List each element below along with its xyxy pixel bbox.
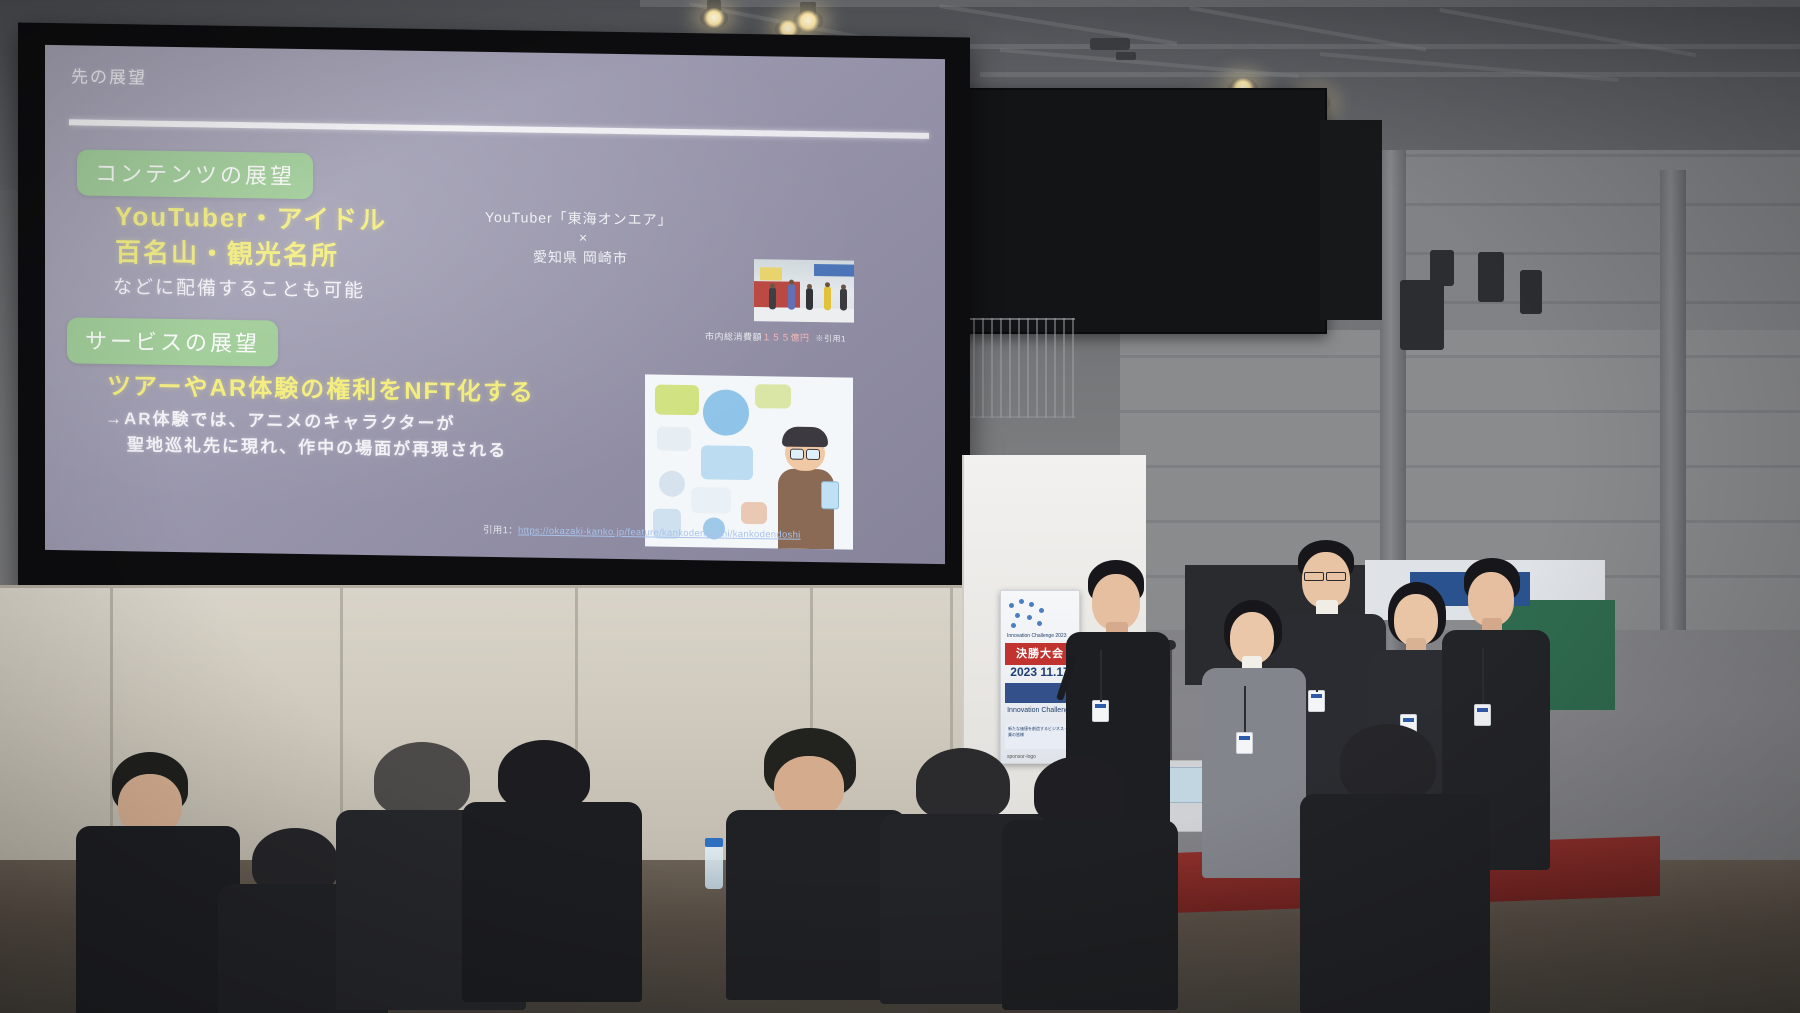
ceiling-truss (980, 72, 1800, 77)
audience-hair (1340, 724, 1436, 800)
contents-line-2: 百名山・観光名所 (115, 232, 339, 273)
audience-hair (374, 742, 470, 816)
thumb-sign (760, 267, 782, 280)
ceiling-light-body (1090, 38, 1130, 50)
illust-dot (659, 471, 685, 497)
metric-note: ※引用1 (816, 334, 846, 343)
case-study-line-2: 愛知県 岡崎市 (533, 247, 628, 268)
audience-torso (462, 802, 642, 1002)
thumb-person-head (789, 280, 794, 285)
metric-line: 市内総消費額１５５億円 ※引用1 (705, 329, 846, 344)
presenter-lanyard (1244, 686, 1246, 732)
illust-speech-bubble (657, 427, 691, 452)
case-study-line-1: YouTuber「東海オンエア」 (485, 207, 673, 230)
speaker-box (1520, 270, 1542, 314)
thumb-person (824, 286, 831, 310)
illust-speech-bubble (655, 385, 699, 416)
presenter-badge (1236, 732, 1253, 754)
illust-globe-icon (703, 389, 749, 436)
illust-speech-bubble (691, 487, 731, 514)
presenter-lanyard (1316, 632, 1318, 692)
thumb-person (788, 284, 795, 310)
audience-torso (76, 826, 240, 1013)
ceiling-light-body (1116, 52, 1136, 60)
illust-character-glasses (790, 449, 804, 460)
ceiling-light (700, 8, 728, 28)
led-display-panel-side (1320, 120, 1382, 320)
illust-character-glasses (806, 449, 820, 460)
audience-torso (1002, 820, 1178, 1010)
illust-house-icon (741, 502, 767, 524)
section-pill-service: サービスの展望 (67, 317, 278, 366)
thumb-person (806, 288, 813, 310)
thumb-blue-banner (814, 264, 854, 277)
poster-headline: 決勝大会 (1005, 643, 1075, 665)
thumb-person-head (770, 283, 775, 288)
poster-event-name: Innovation Challenge 2023 (1007, 633, 1067, 639)
metric-label: 市内総消費額 (705, 331, 762, 342)
ar-illustration-thumbnail (645, 374, 853, 549)
water-bottle-cap (705, 838, 723, 847)
thumb-person-head (841, 284, 846, 289)
thumb-floor (754, 307, 854, 323)
thumb-person-head (825, 282, 830, 287)
audience-torso (726, 810, 906, 1000)
illust-smartphone (821, 481, 839, 509)
speaker-box (1478, 252, 1504, 302)
audience-head (774, 756, 844, 818)
citation-prefix: 引用1： (483, 525, 518, 537)
audience-torso (1300, 794, 1490, 1013)
contents-line-3: などに配備することも可能 (113, 272, 365, 303)
contents-line-1: YouTuber・アイドル (115, 196, 387, 237)
presenter-lanyard (1408, 668, 1410, 714)
presenter-glasses (1304, 572, 1324, 581)
slide-title-rule (69, 119, 929, 139)
service-headline: ツアーやAR体験の権利をNFT化する (107, 366, 535, 408)
led-display-panel (953, 88, 1327, 334)
presenter-lanyard (1100, 650, 1102, 702)
audience-hair (916, 748, 1010, 820)
presenter-badge (1474, 704, 1491, 726)
hall-pillar (1660, 170, 1686, 630)
presenter-torso (1202, 668, 1306, 878)
presenter-lanyard (1482, 648, 1484, 704)
poster-logo-dots (1009, 599, 1051, 629)
water-bottle (705, 845, 723, 889)
onair-thumbnail-photo (754, 259, 854, 323)
speaker-box (1430, 250, 1454, 286)
case-study-cross: × (579, 229, 588, 245)
section-pill-contents: コンテンツの展望 (77, 149, 313, 199)
metric-value: １５５億円 (762, 332, 810, 343)
speaker-box (1400, 280, 1444, 350)
slide-header-title: 先の展望 (71, 62, 147, 88)
catwalk-railing (955, 318, 1075, 418)
thumb-person (840, 288, 847, 310)
presenter-badge (1308, 690, 1325, 712)
audience-hair (1034, 756, 1126, 826)
poster-sponsor-logo: sponsor-logo (1007, 754, 1036, 760)
service-detail-line-2: 聖地巡礼先に現れ、作中の場面が再現される (127, 430, 507, 461)
illust-speech-bubble (701, 445, 753, 480)
citation-url[interactable]: https://okazaki-kanko.jp/feature/kankode… (518, 525, 801, 540)
poster-footer-block: 新たな価値を創造するビジネス・企業の皆様 (1005, 723, 1075, 749)
poster-subtitle: Innovation Challenge (1005, 707, 1075, 714)
conference-photo: 先の展望 コンテンツの展望 YouTuber・アイドル 百名山・観光名所 などに… (0, 0, 1800, 1013)
thumb-person-head (807, 284, 812, 289)
poster-footer-text: 新たな価値を創造するビジネス・企業の皆様 (1005, 723, 1075, 741)
illust-speech-bubble (755, 384, 791, 409)
presenter-glasses (1326, 572, 1346, 581)
illust-character-hair (782, 427, 828, 448)
projection-screen: 先の展望 コンテンツの展望 YouTuber・アイドル 百名山・観光名所 などに… (45, 45, 945, 564)
thumb-person (769, 287, 776, 309)
presenter-badge (1092, 700, 1109, 722)
audience-hair (498, 740, 590, 810)
